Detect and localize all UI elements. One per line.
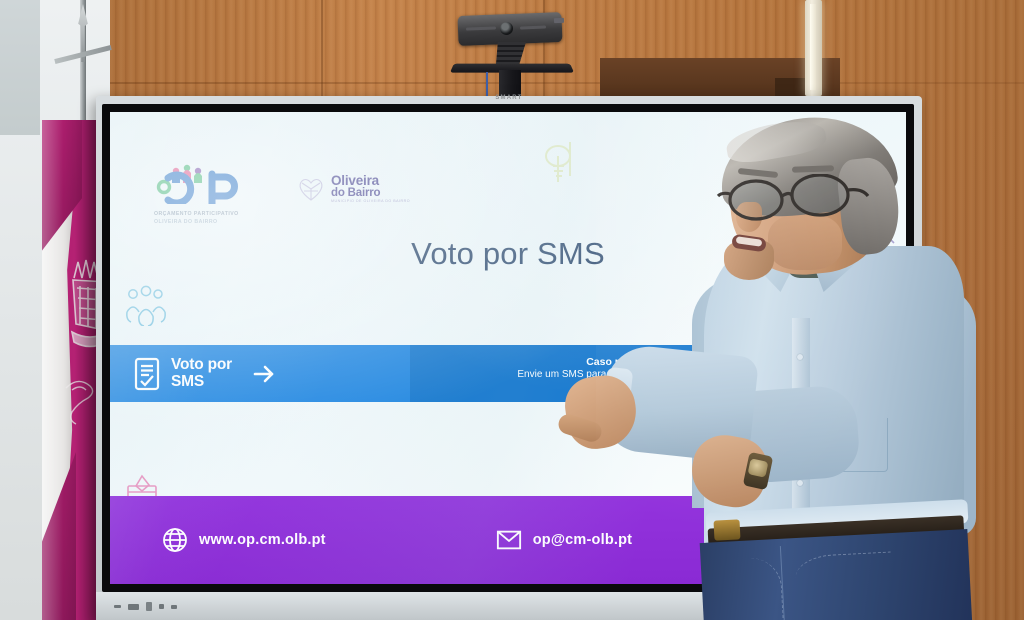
arrow-right-icon <box>251 361 277 387</box>
op-logo-subtitle-2: OLIVEIRA DO BAIRRO <box>154 219 262 227</box>
band-label-line2: SMS <box>171 374 232 390</box>
display-button-volume-down[interactable] <box>159 604 164 609</box>
ballot-checklist-icon <box>132 357 162 391</box>
presenter <box>596 118 976 620</box>
heart-outline-icon <box>296 175 326 203</box>
globe-icon <box>162 527 188 553</box>
op-logo: ORÇAMENTO PARTICIPATIVO OLIVEIRA DO BAIR… <box>154 164 262 227</box>
camera-mount <box>496 42 526 64</box>
display-brand-label: SMART <box>495 95 522 101</box>
idea-bulb-icon <box>540 140 584 186</box>
display-button-menu[interactable] <box>146 602 152 611</box>
glasses-icon <box>716 174 886 222</box>
people-group-icon <box>124 284 170 326</box>
wall-light-fixture <box>805 0 822 96</box>
municipality-name-line3: MUNICIPIO DE OLIVEIRA DO BAIRRO <box>331 200 410 204</box>
display-button-input[interactable] <box>128 604 139 610</box>
display-button-volume-up[interactable] <box>171 605 177 609</box>
op-logo-mark-icon <box>154 164 260 204</box>
footer-website-label: www.op.cm.olb.pt <box>199 532 326 548</box>
band-label-line1: Voto por <box>171 357 232 373</box>
sms-vote-band-left: Voto por SMS <box>110 345 410 402</box>
municipality-logo: Oliveira do Bairro MUNICIPIO DE OLIVEIRA… <box>296 174 410 204</box>
envelope-icon <box>496 527 522 553</box>
municipality-name-line2: do Bairro <box>331 188 410 200</box>
footer-website[interactable]: www.op.cm.olb.pt <box>162 527 326 553</box>
display-button-power[interactable] <box>114 605 121 608</box>
display-control-buttons[interactable] <box>114 602 177 611</box>
municipality-name-line1: Oliveira <box>331 174 410 188</box>
presenter-belt-buckle <box>713 519 740 540</box>
op-logo-subtitle-1: ORÇAMENTO PARTICIPATIVO <box>154 211 262 219</box>
